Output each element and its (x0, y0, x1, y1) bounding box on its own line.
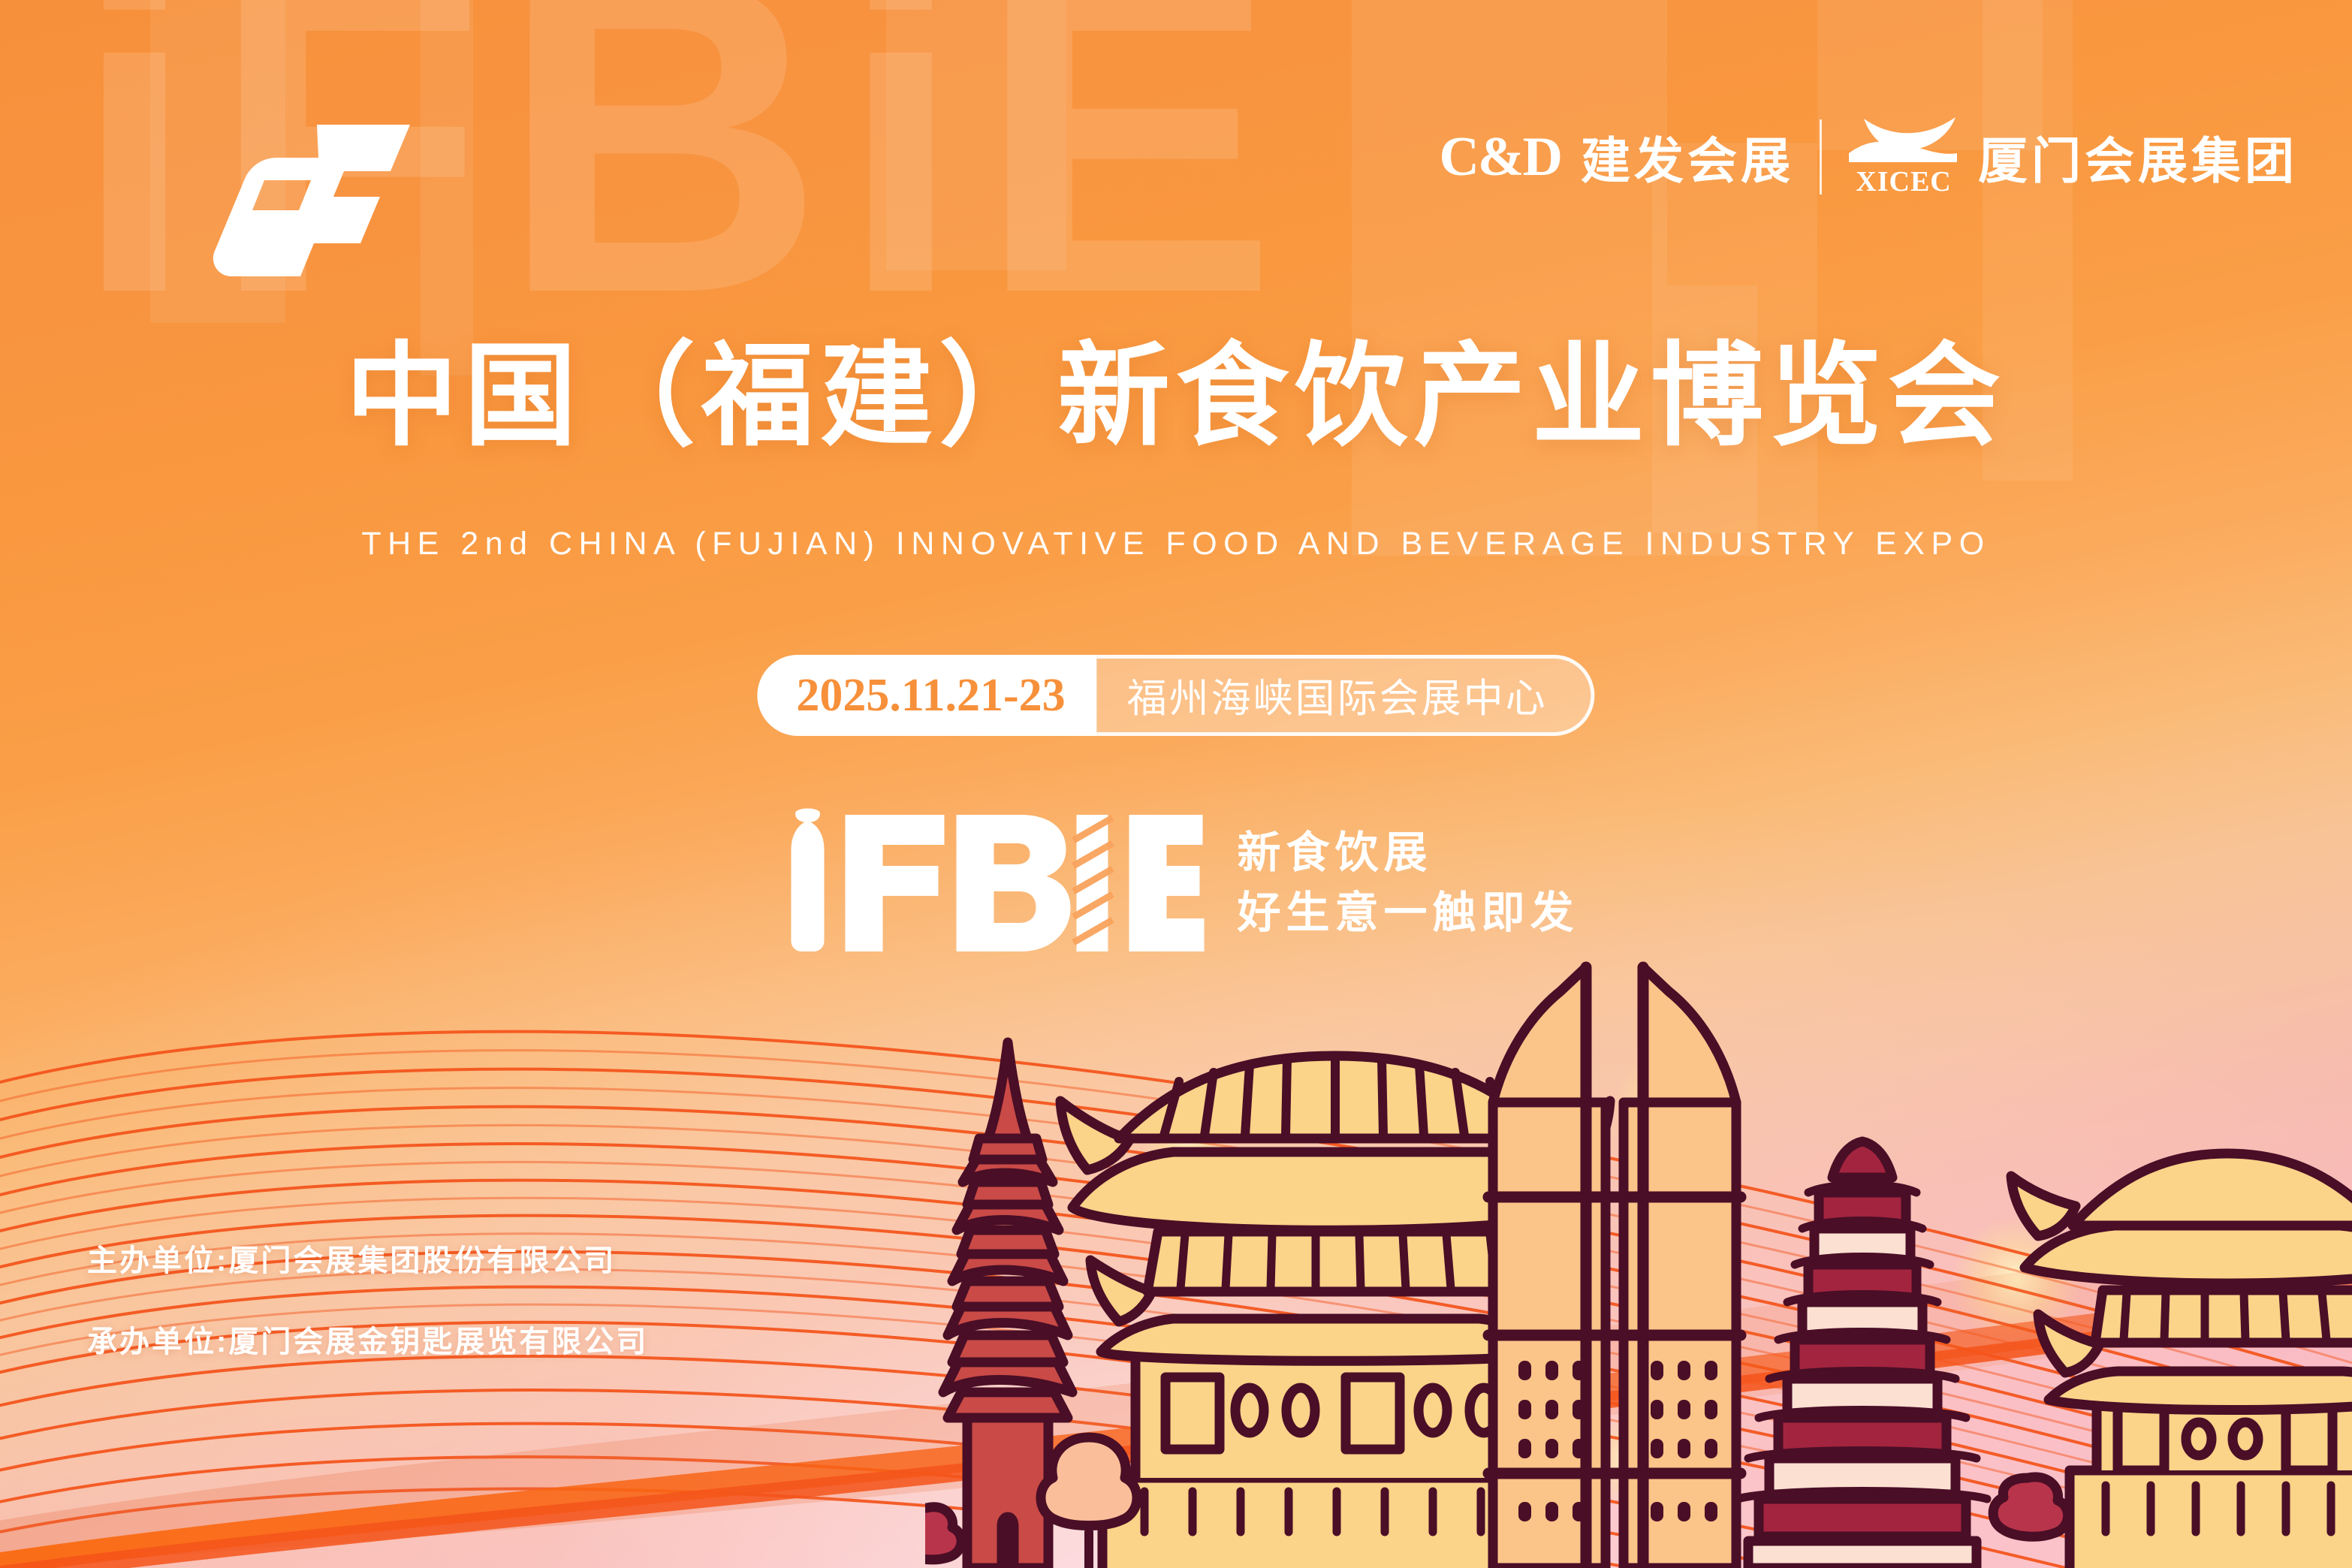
organizer-credit-line: 承办单位:厦门会展金钥匙展览有限公司 (87, 1317, 648, 1361)
event-venue: 福州海峡国际会展中心 (1097, 655, 1595, 736)
organizer-credit-line: 主办单位:厦门会展集团股份有限公司 (87, 1236, 648, 1280)
skyline-illustration (925, 817, 2352, 1568)
page-title-english: THE 2nd CHINA (FUJIAN) INNOVATIVE FOOD A… (0, 526, 2352, 562)
twin-towers-icon (1488, 967, 1741, 1568)
event-info-pill: 2025.11.21-23 福州海峡国际会展中心 (757, 655, 1594, 736)
bush-icon (925, 1507, 961, 1560)
logo-xicec: XICEC 厦门会展集团 (1847, 116, 2298, 198)
bush-icon (1993, 1477, 2067, 1536)
poster-canvas: iFBiE (0, 0, 2352, 1568)
logo-cd: C&D 建发会展 (1439, 121, 1794, 193)
cd-latin-text: C&D (1439, 125, 1561, 189)
cd-chinese-text: 建发会展 (1581, 121, 1794, 193)
pagoda-tall-icon (1738, 1141, 1987, 1568)
xicec-latin-text: XICEC (1856, 165, 1951, 198)
logo-divider (1820, 119, 1822, 194)
organizer-logos: C&D 建发会展 XICEC 厦门会展集团 (1439, 113, 2298, 201)
event-dates: 2025.11.21-23 (757, 655, 1096, 736)
xicec-chinese-text: 厦门会展集团 (1978, 121, 2298, 193)
df-monogram-icon (188, 120, 413, 278)
organizer-credits: 主办单位:厦门会展集团股份有限公司 承办单位:厦门会展金钥匙展览有限公司 (87, 1236, 648, 1361)
page-title-chinese: 中国（福建）新食饮产业博览会 (0, 339, 2352, 452)
xicec-wave-icon (1847, 116, 1960, 164)
